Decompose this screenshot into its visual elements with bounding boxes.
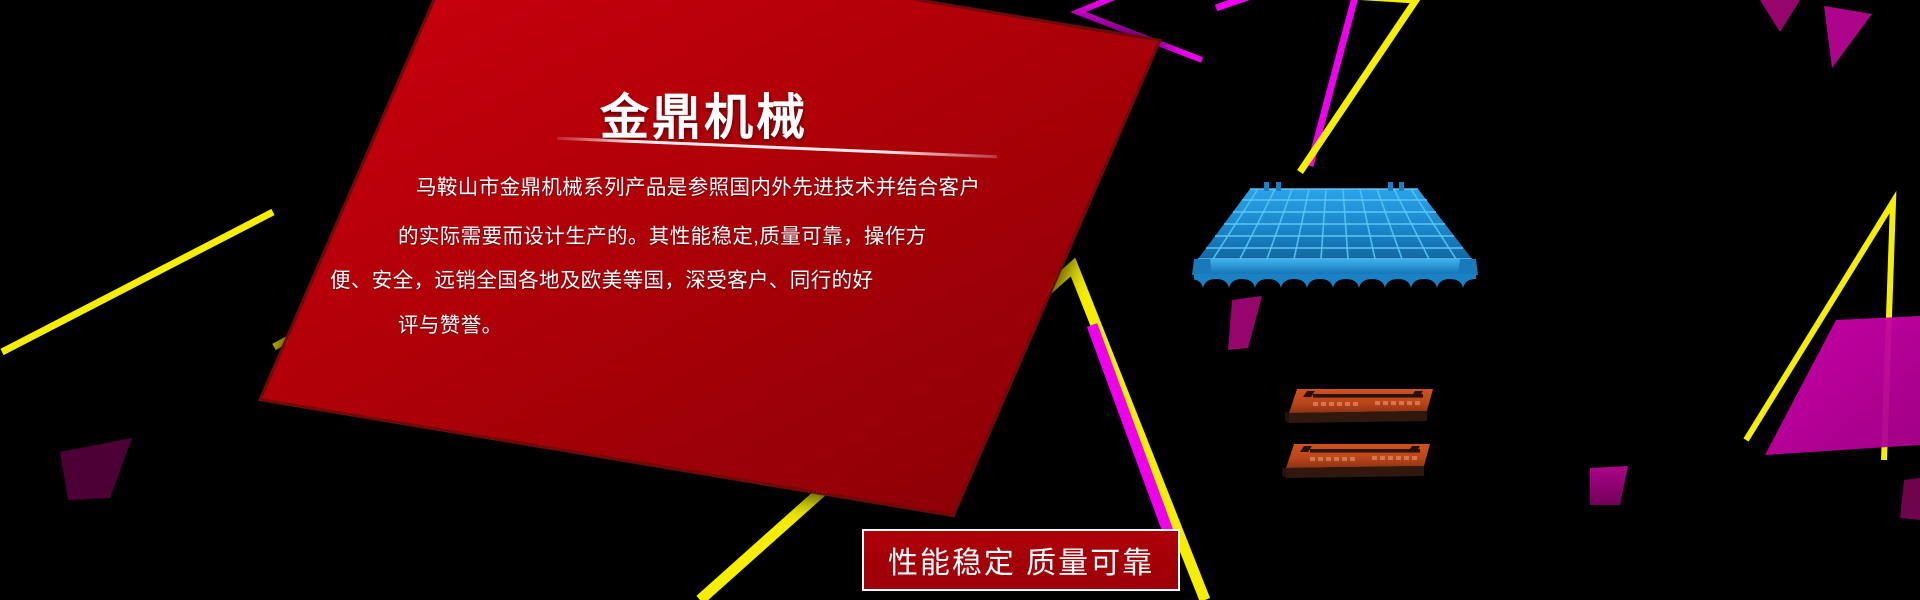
product-jaw-plate-lower bbox=[1280, 440, 1435, 482]
banner-root: 金鼎机械 马鞍山市金鼎机械系列产品是参照国内外先进技术并结合客户 的实际需要而设… bbox=[0, 0, 1920, 600]
description-line-3: 便、安全，远销全国各地及欧美等国，深受客户、同行的好 bbox=[330, 263, 873, 293]
product-grate-plate bbox=[1180, 175, 1480, 295]
grate-end-right bbox=[1458, 259, 1478, 275]
grate-lug-mid bbox=[1276, 182, 1281, 191]
jaw-groove bbox=[1313, 394, 1423, 398]
jaw-left-face bbox=[1282, 467, 1286, 478]
product-jaw-plate-upper bbox=[1283, 385, 1438, 427]
grate-front-rail bbox=[1194, 259, 1476, 274]
grate-scallop-edge bbox=[1190, 274, 1476, 288]
grate-end-left bbox=[1192, 259, 1212, 275]
jaw-groove bbox=[1310, 449, 1420, 453]
grate-lug-left bbox=[1264, 182, 1269, 191]
jaw-front-face bbox=[1286, 466, 1424, 478]
jaw-left-face bbox=[1285, 412, 1289, 423]
page-title: 金鼎机械 bbox=[600, 78, 808, 149]
grate-lug-right2 bbox=[1399, 182, 1404, 191]
description-line-4: 评与赞誉。 bbox=[398, 308, 503, 338]
description-line-1: 马鞍山市金鼎机械系列产品是参照国内外先进技术并结合客户 bbox=[416, 170, 980, 200]
card-content: 金鼎机械 马鞍山市金鼎机械系列产品是参照国内外先进技术并结合客户 的实际需要而设… bbox=[0, 0, 1920, 600]
slogan-text: 性能稳定 质量可靠 bbox=[888, 538, 1154, 582]
slogan-box: 性能稳定 质量可靠 bbox=[862, 529, 1180, 591]
jaw-front-face bbox=[1289, 411, 1427, 423]
grate-lug-right bbox=[1388, 182, 1393, 191]
description-line-2: 的实际需要而设计生产的。其性能稳定,质量可靠，操作方 bbox=[398, 219, 927, 249]
